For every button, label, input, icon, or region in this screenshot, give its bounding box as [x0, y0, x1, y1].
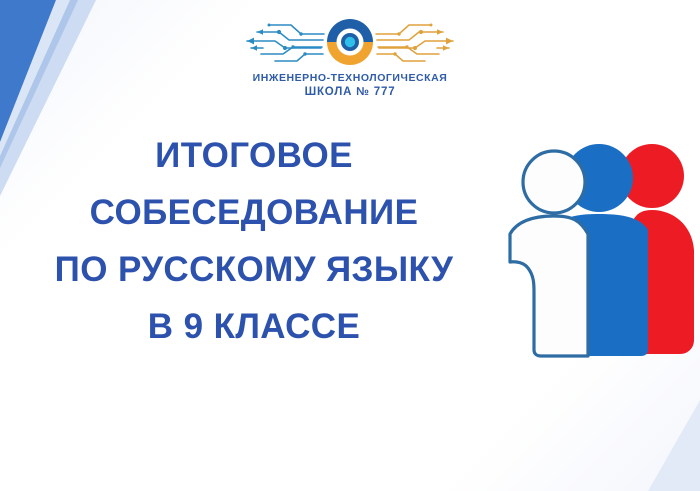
- page-title-line-1: ИТОГОВОЕ: [8, 127, 500, 184]
- emblem-eye-icon: [326, 18, 374, 66]
- circuit-traces-left: [247, 25, 324, 61]
- emblem-caption-line1: ИНЖЕНЕРНО-ТЕХНОЛОГИЧЕСКАЯ: [253, 72, 448, 85]
- emblem-caption-line2: ШКОЛА № 777: [253, 85, 448, 100]
- school-emblem: ИНЖЕНЕРНО-ТЕХНОЛОГИЧЕСКАЯ ШКОЛА № 777: [0, 14, 700, 100]
- emblem-caption: ИНЖЕНЕРНО-ТЕХНОЛОГИЧЕСКАЯ ШКОЛА № 777: [253, 72, 448, 100]
- page-title-line-4: В 9 КЛАССЕ: [8, 298, 500, 355]
- page-title: ИТОГОВОЕ СОБЕСЕДОВАНИЕ ПО РУССКОМУ ЯЗЫКУ…: [8, 127, 500, 355]
- page-title-line-3: ПО РУССКОМУ ЯЗЫКУ: [8, 241, 500, 298]
- circuit-traces-right: [376, 25, 453, 61]
- poster-canvas: ИНЖЕНЕРНО-ТЕХНОЛОГИЧЕСКАЯ ШКОЛА № 777 ИТ…: [0, 0, 700, 491]
- ribbon-bottom-right: [648, 400, 700, 491]
- page-title-line-2: СОБЕСЕДОВАНИЕ: [8, 184, 500, 241]
- russian-tricolor-people-icon: [496, 134, 700, 360]
- engineering-school-emblem-icon: [245, 14, 455, 70]
- figure-white: [510, 151, 588, 356]
